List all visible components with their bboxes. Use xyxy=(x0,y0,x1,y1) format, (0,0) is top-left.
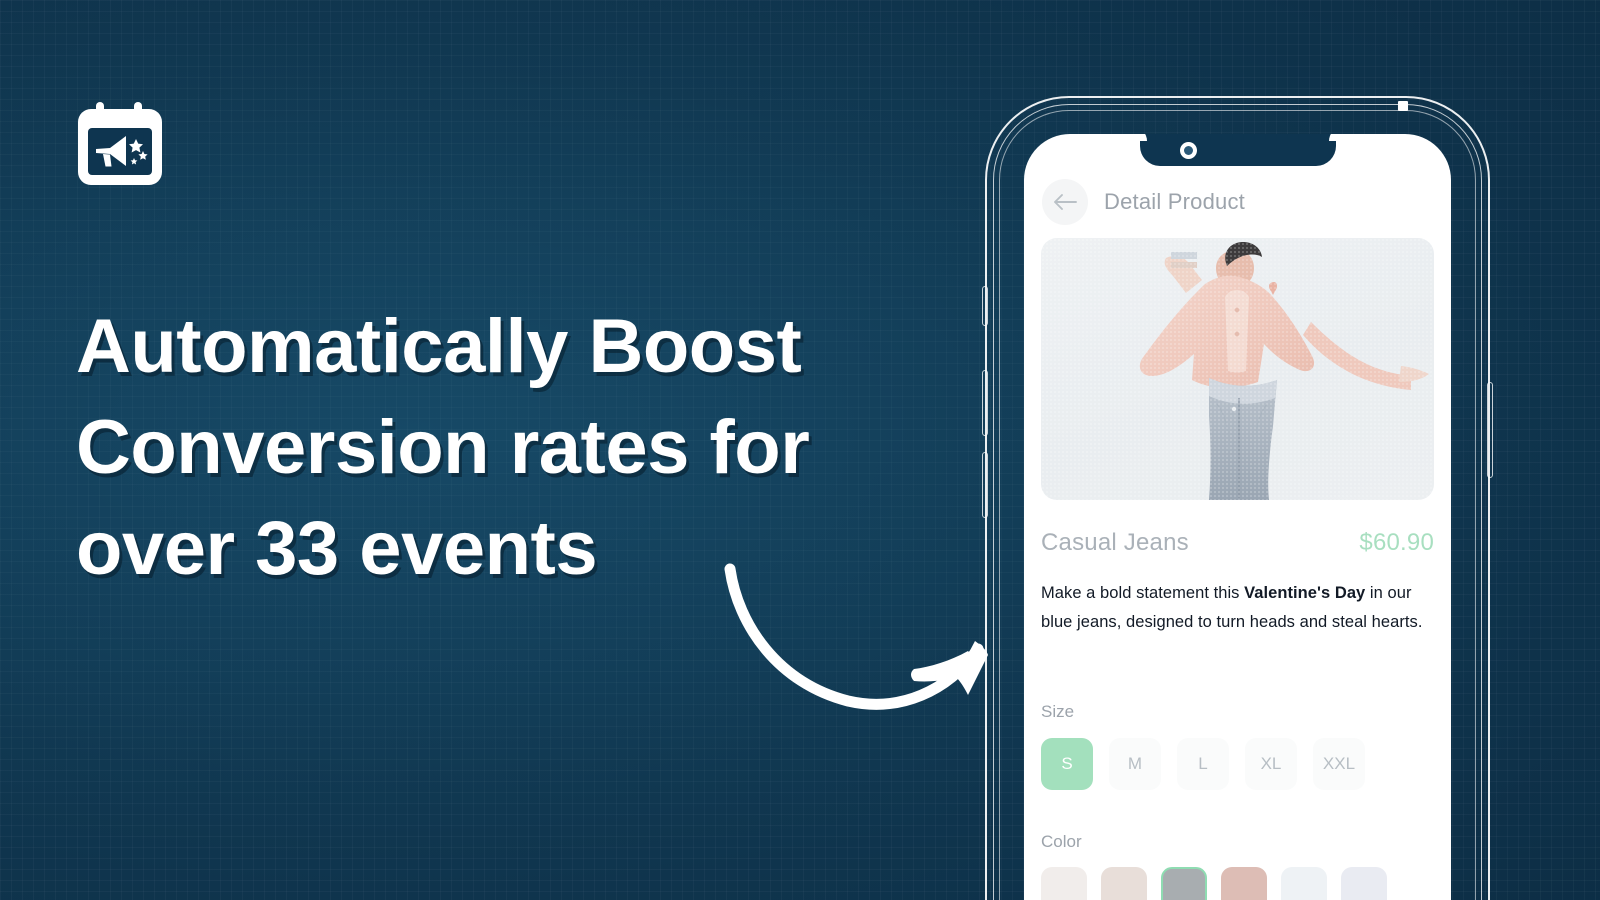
color-options xyxy=(1041,867,1387,900)
arrow-left-icon xyxy=(1052,193,1078,211)
phone-notch xyxy=(1140,134,1336,166)
left-content-column: Automatically Boost Conversion rates for… xyxy=(76,98,976,599)
image-texture xyxy=(1041,238,1434,500)
headline-line-3: over 33 events xyxy=(76,498,936,599)
front-camera-icon xyxy=(1180,142,1197,159)
product-price: $60.90 xyxy=(1359,529,1434,557)
color-option-dusty-pink[interactable] xyxy=(1221,867,1267,900)
phone-screen: Detail Product xyxy=(1024,134,1451,900)
app-bar: Detail Product xyxy=(1024,176,1451,228)
size-option-xl[interactable]: XL xyxy=(1245,738,1297,790)
size-option-s[interactable]: S xyxy=(1041,738,1093,790)
color-label: Color xyxy=(1041,832,1082,852)
color-option-beige[interactable] xyxy=(1101,867,1147,900)
product-summary-row: Casual Jeans $60.90 xyxy=(1041,529,1434,557)
back-button[interactable] xyxy=(1042,179,1088,225)
power-button[interactable] xyxy=(1487,382,1493,478)
size-label: Size xyxy=(1041,702,1074,722)
headline-line-2: Conversion rates for xyxy=(76,397,936,498)
description-part-1: Make a bold statement this xyxy=(1041,584,1244,602)
product-name: Casual Jeans xyxy=(1041,529,1189,557)
color-option-cream[interactable] xyxy=(1041,867,1087,900)
product-description: Make a bold statement this Valentine's D… xyxy=(1041,579,1434,638)
color-option-gray[interactable] xyxy=(1161,867,1207,900)
size-option-l[interactable]: L xyxy=(1177,738,1229,790)
size-options: S M L XL XXL xyxy=(1041,738,1365,790)
volume-down-button[interactable] xyxy=(982,452,988,518)
description-highlight: Valentine's Day xyxy=(1244,584,1365,602)
product-image[interactable] xyxy=(1041,238,1434,500)
calendar-megaphone-icon xyxy=(76,98,164,186)
color-option-ice-blue[interactable] xyxy=(1281,867,1327,900)
color-option-lavender[interactable] xyxy=(1341,867,1387,900)
phone-mockup: Detail Product xyxy=(985,96,1490,900)
size-option-xxl[interactable]: XXL xyxy=(1313,738,1365,790)
page-title: Automatically Boost Conversion rates for… xyxy=(76,296,936,599)
size-option-m[interactable]: M xyxy=(1109,738,1161,790)
volume-up-button[interactable] xyxy=(982,370,988,436)
frame-accent-dot xyxy=(1398,101,1408,111)
headline-line-1: Automatically Boost xyxy=(76,296,936,397)
page-title-text: Detail Product xyxy=(1104,189,1245,215)
mute-switch-button[interactable] xyxy=(982,286,988,326)
